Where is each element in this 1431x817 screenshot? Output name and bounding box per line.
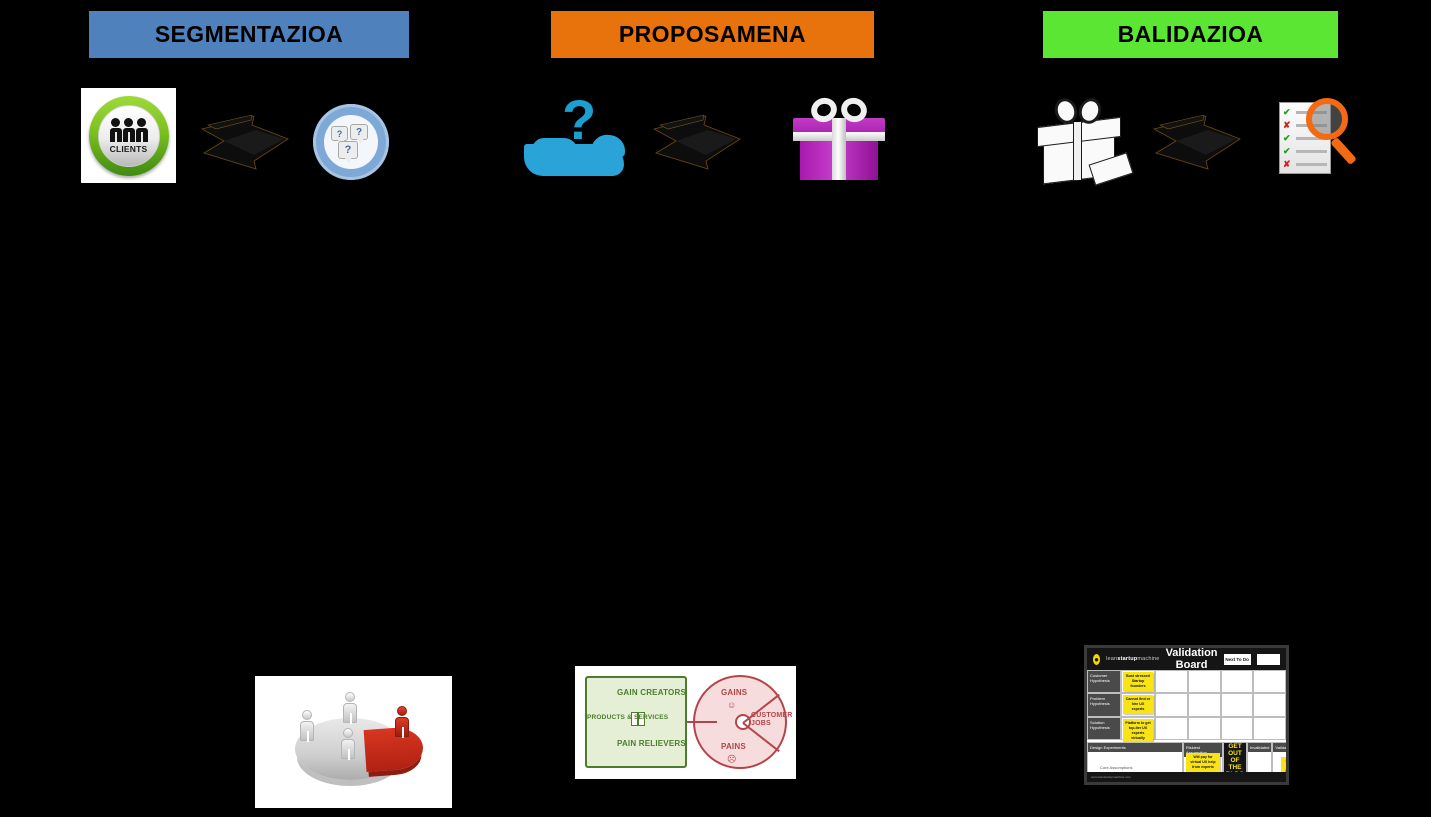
banner-segmentazioa-label: SEGMENTAZIOA [155,21,343,48]
pie-highlight-slice [364,726,425,772]
people-group [110,118,148,142]
vpc-connector-line [687,721,717,723]
clients-ring: CLIENTS [89,96,169,176]
validation-board: ● leanstartupmachine Validation Board Ne… [1087,648,1286,782]
validation-board-footer: www.leanstartupmachine.com [1087,772,1286,782]
pie-person-figure [300,710,314,741]
person-figure [110,118,122,142]
grid-cell [1253,717,1286,740]
lsm-logo-icon: ● [1093,654,1100,665]
grid-cell [1188,670,1221,693]
vpc-label-pain-relievers: PAIN RELIEVERS [617,739,686,748]
design-experiments-label: Design Experiments [1088,743,1182,752]
validation-board-title: Validation Board [1166,647,1218,671]
magnifier-lens [1306,98,1348,140]
banner-proposamena: PROPOSAMENA [551,11,874,58]
value-proposition-canvas-image: GAIN CREATORS PRODUCTS & SERVICES PAIN R… [575,666,796,779]
gift-box-price-tag-icon [1029,92,1135,182]
brand-prefix: lean [1106,656,1117,662]
row-header-customer: Customer Hypothesis [1087,670,1121,693]
checklist-magnifier-icon: ✔ ✘ ✔ ✔ ✘ [1279,98,1357,180]
sticky-note: Cannot find or hire UX experts [1123,695,1153,714]
gift-box-icon [787,92,891,180]
next-todo-field: Next To Do [1224,654,1251,665]
vpc-diagram: GAIN CREATORS PRODUCTS & SERVICES PAIN R… [575,666,796,779]
grid-cell [1188,717,1221,740]
pie-person-figure [341,728,355,759]
person-figure [136,118,148,142]
checklist-row: ✔ [1283,147,1327,156]
vpc-label-products-services: PRODUCTS & SERVICES [587,714,668,722]
grid-cell [1253,693,1286,716]
validation-board-grid: Customer Hypothesis Bust stressed Startu… [1087,670,1286,772]
brand-bold: startup [1117,656,1137,662]
clients-inner: CLIENTS [98,105,160,167]
brand-suffix: machine [1137,656,1159,662]
grid-cell [1155,670,1188,693]
clients-label: CLIENTS [110,144,148,154]
vpc-label-customer-jobs: CUSTOMER JOBS [751,712,796,728]
grid-cell [1188,693,1221,716]
blank-field [1257,654,1280,665]
vpc-label-gains: GAINS [721,688,747,697]
vpc-pains-face: ☹ [727,754,736,765]
grid-cell [1221,670,1254,693]
banner-segmentazioa: SEGMENTAZIOA [89,11,409,58]
hand-holding-question-icon: ? [524,92,628,180]
sticky-note: Will pay for virtual UX help from expert… [1186,753,1220,772]
arrow-right-3d-icon [1148,105,1252,177]
pie-person-figure-highlight [395,706,409,737]
experiments-row: Design Experiments Core Assumptions Assu… [1087,742,1286,772]
sticky-note: Bust stressed Startup founders [1123,672,1153,691]
grid-cell [1253,670,1286,693]
validation-board-image: ● leanstartupmachine Validation Board Ne… [1084,645,1289,785]
grid-cell [1155,717,1188,740]
grid-cell: Cannot find or hire UX experts [1121,693,1155,716]
sticky-note: Platform to get top-tier UX experts virt… [1123,719,1153,743]
arrow-right-3d-icon [196,105,300,177]
question-speech-bubbles-icon: ? ? ? [313,104,389,180]
banner-balidazioa-label: BALIDAZIOA [1118,21,1264,48]
invalidated-label: Invalidated [1248,743,1271,752]
pie-chart-3d [255,676,452,808]
vpc-label-gain-creators: GAIN CREATORS [617,688,686,697]
question-bubble: ? [338,141,358,159]
grid-cell: Bust stressed Startup founders [1121,670,1155,693]
grid-cell [1221,717,1254,740]
question-bubble: ? [331,126,348,141]
banner-balidazioa: BALIDAZIOA [1043,11,1338,58]
row-header-solution: Solution Hypothesis [1087,717,1121,740]
clients-group-icon: CLIENTS [81,88,176,183]
validated-label: Validated [1273,743,1289,752]
white-gift-ribbon [1073,122,1082,180]
magnifier-handle [1330,137,1357,165]
lsm-brand: leanstartupmachine [1106,656,1159,662]
hypothesis-grid: Customer Hypothesis Bust stressed Startu… [1087,670,1286,740]
slide-canvas: SEGMENTAZIOA PROPOSAMENA BALIDAZIOA CLIE… [0,0,1431,817]
open-hand-shape [524,144,624,176]
footer-url: www.leanstartupmachine.com [1091,775,1131,779]
core-assumptions-label: Core Assumptions [1100,765,1132,770]
grid-cell: Platform to get top-tier UX experts virt… [1121,717,1155,740]
vpc-label-pains: PAINS [721,742,746,751]
validation-board-header: ● leanstartupmachine Validation Board Ne… [1087,648,1286,670]
banner-proposamena-label: PROPOSAMENA [619,21,806,48]
pie-person-figure [343,692,357,723]
checklist-row: ✘ [1283,160,1327,169]
question-bubble: ? [350,124,368,140]
grid-cell [1221,693,1254,716]
person-figure [123,118,135,142]
vpc-gains-face: ☺ [727,700,736,710]
segmentation-pie-image [255,676,452,808]
grid-cell [1155,693,1188,716]
gift-ribbon-vertical [832,118,846,180]
question-bubbles-inner: ? ? ? [324,115,378,169]
arrow-right-3d-icon [648,105,752,177]
row-header-problem: Problem Hypothesis [1087,693,1121,716]
